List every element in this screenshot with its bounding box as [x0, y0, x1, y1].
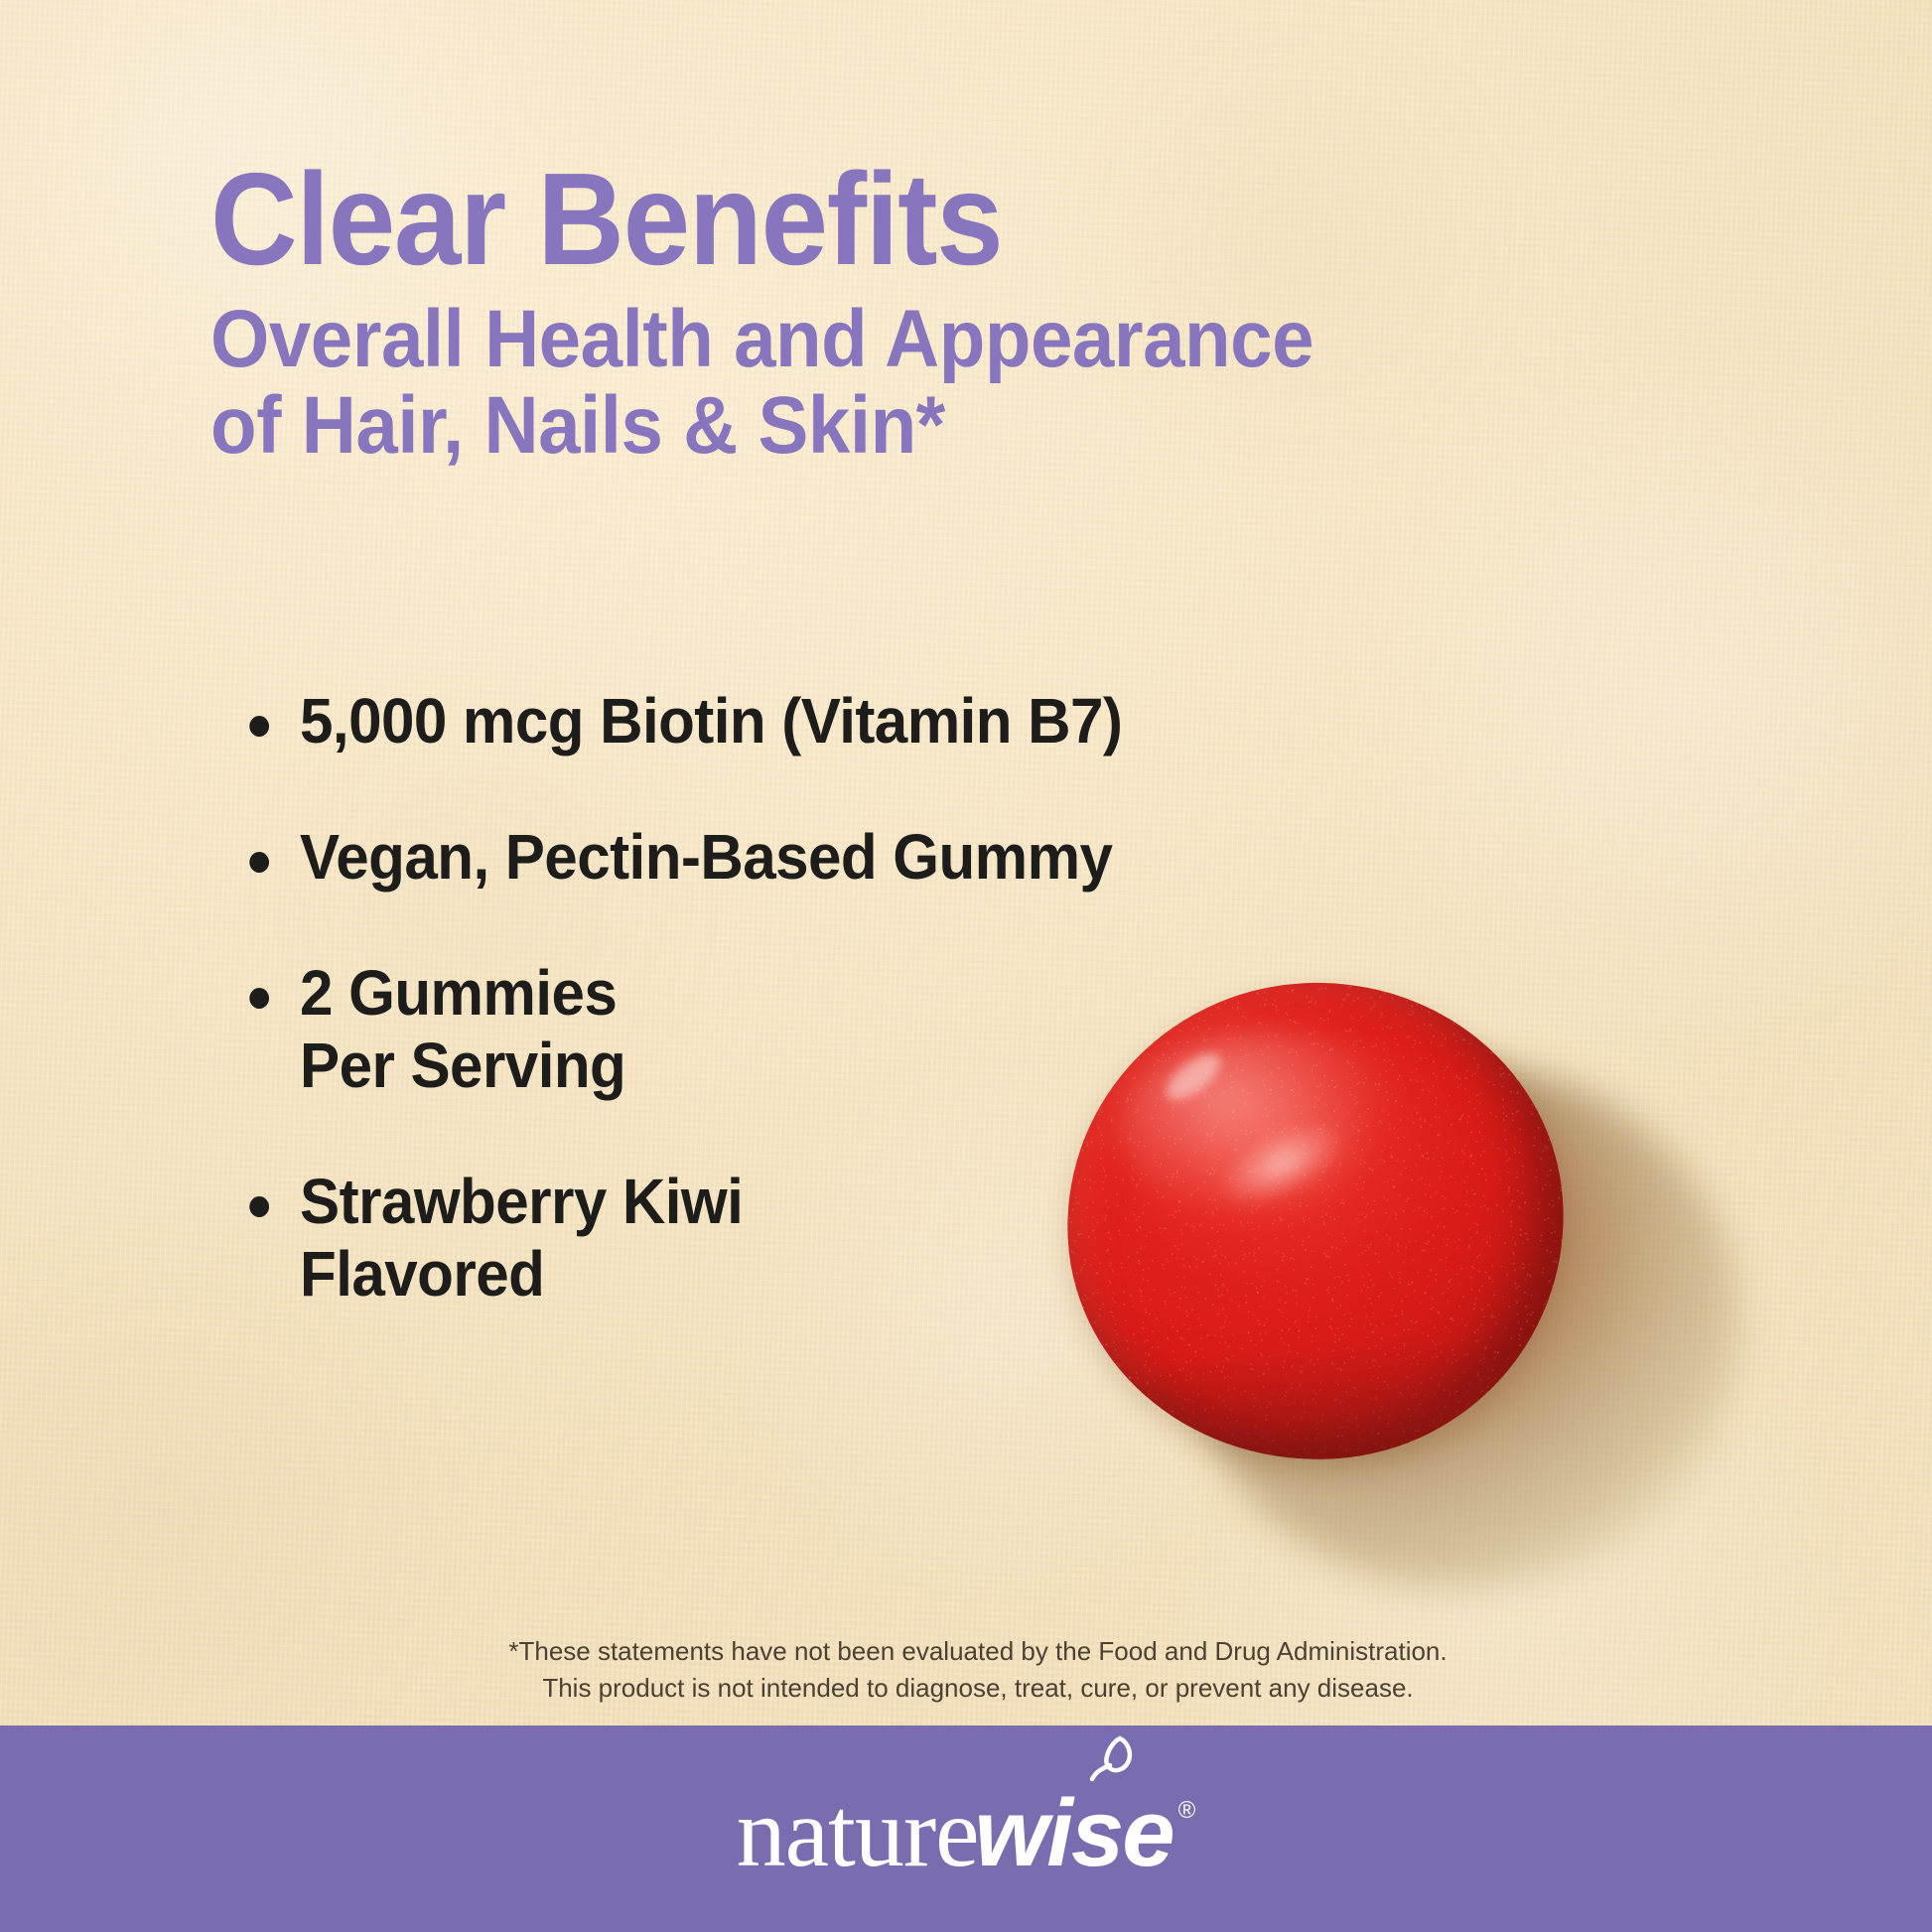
gummy-highlight-specular: [1210, 1108, 1353, 1220]
list-item: 2 Gummies Per Serving: [238, 957, 1180, 1102]
list-item: Vegan, Pectin-Based Gummy: [238, 821, 1180, 894]
subtitle-line-2: of Hair, Nails & Skin*: [210, 383, 1540, 470]
benefit-line: 5,000 mcg Biotin (Vitamin B7): [300, 685, 1180, 758]
bullet-dot-icon: [249, 716, 269, 737]
leaf-icon: [1088, 1735, 1138, 1795]
list-item: Strawberry Kiwi Flavored: [238, 1166, 1180, 1311]
benefit-line: Vegan, Pectin-Based Gummy: [300, 821, 1180, 894]
product-benefits-graphic: Clear Benefits Overall Health and Appear…: [0, 0, 1932, 1932]
naturewise-logo: nature wise ®: [737, 1783, 1196, 1882]
fda-disclaimer: *These statements have not been evaluate…: [397, 1633, 1559, 1707]
page-title: Clear Benefits: [210, 157, 1526, 283]
benefit-line: Strawberry Kiwi: [300, 1166, 1180, 1238]
benefit-line: Per Serving: [300, 1030, 1180, 1102]
headline-block: Clear Benefits Overall Health and Appear…: [210, 157, 1640, 470]
benefit-line: Flavored: [300, 1238, 1180, 1311]
benefit-line: 2 Gummies: [300, 957, 1180, 1030]
red-gummy-icon: [1051, 966, 1580, 1476]
page-subtitle: Overall Health and Appearance of Hair, N…: [210, 297, 1540, 470]
bullet-dot-icon: [249, 852, 269, 873]
gummy-highlight-broad: [1114, 1020, 1405, 1229]
list-item: 5,000 mcg Biotin (Vitamin B7): [238, 685, 1180, 758]
bullet-dot-icon: [249, 988, 269, 1009]
subtitle-line-1: Overall Health and Appearance: [210, 297, 1540, 383]
product-photo: [1067, 983, 1703, 1588]
bullet-dot-icon: [249, 1196, 269, 1217]
gummy-highlight-glint: [1160, 1045, 1228, 1108]
registered-trademark-icon: ®: [1178, 1799, 1196, 1823]
disclaimer-line-1: *These statements have not been evaluate…: [397, 1633, 1559, 1670]
disclaimer-line-2: This product is not intended to diagnose…: [397, 1670, 1559, 1707]
logo-text-nature: nature: [737, 1783, 979, 1882]
brand-footer: nature wise ®: [0, 1725, 1932, 1932]
logo-text-wise: wise: [975, 1786, 1173, 1881]
